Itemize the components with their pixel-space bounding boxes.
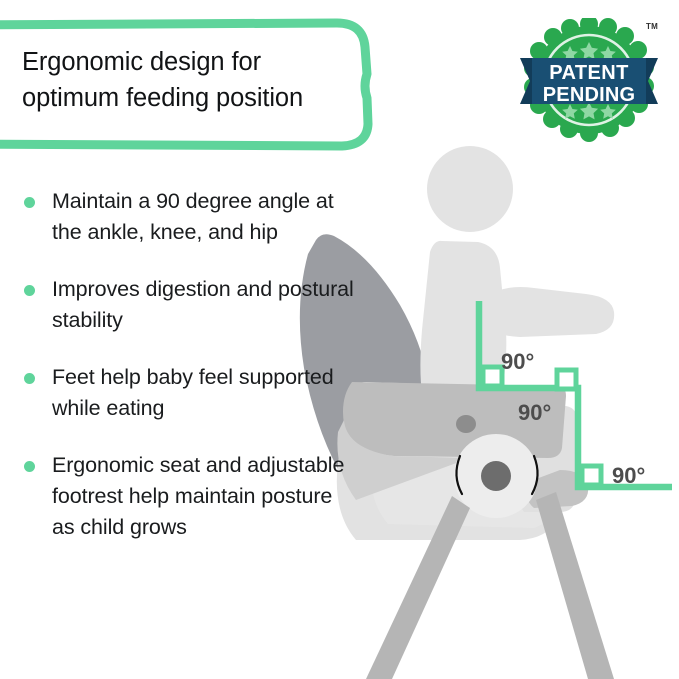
- page-title: Ergonomic design for optimum feeding pos…: [22, 44, 370, 116]
- bullet-dot-icon: [24, 197, 35, 208]
- recline-arc-right: [532, 456, 538, 494]
- right-angle-square-hip: [483, 367, 502, 386]
- list-item-label: Ergonomic seat and adjustable footrest h…: [52, 450, 354, 543]
- patent-pending-badge: TM PATENT PENDING: [518, 18, 660, 142]
- chair-leg-right: [536, 492, 614, 679]
- list-item-label: Feet help baby feel supported while eati…: [52, 362, 354, 424]
- right-angle-markers: [483, 367, 601, 485]
- chair-seat-skirt: [371, 452, 560, 528]
- angle-label-hip: 90°: [501, 349, 534, 375]
- list-item: Feet help baby feel supported while eati…: [24, 362, 354, 424]
- list-item-label: Improves digestion and postural stabilit…: [52, 274, 354, 336]
- baby-foot: [526, 470, 588, 508]
- baby-head: [427, 146, 513, 232]
- page-title-line2: optimum feeding position: [22, 80, 370, 116]
- list-item-label: Maintain a 90 degree angle at the ankle,…: [52, 186, 354, 248]
- baby-torso: [420, 241, 506, 406]
- bullet-dot-icon: [24, 373, 35, 384]
- title-callout-box: Ergonomic design for optimum feeding pos…: [0, 18, 386, 150]
- bullet-dot-icon: [24, 285, 35, 296]
- right-angle-square-ankle: [582, 466, 601, 485]
- badge-label-line1: PATENT: [518, 62, 660, 85]
- recline-arc-left: [456, 456, 462, 494]
- list-item: Maintain a 90 degree angle at the ankle,…: [24, 186, 354, 248]
- angle-label-ankle: 90°: [612, 463, 645, 489]
- infographic-canvas: 90° 90° 90° Ergonomic design for optimum…: [0, 0, 679, 679]
- list-item: Improves digestion and postural stabilit…: [24, 274, 354, 336]
- recline-hub: [454, 434, 538, 518]
- trademark-icon: TM: [646, 22, 658, 31]
- angle-guide-lines: [479, 301, 672, 487]
- benefits-list: Maintain a 90 degree angle at the ankle,…: [24, 186, 354, 569]
- chair-leg-left: [366, 496, 470, 679]
- page-title-line1: Ergonomic design for: [22, 44, 370, 80]
- baby-arm: [486, 287, 614, 337]
- badge-label-line2: PENDING: [518, 84, 660, 107]
- tray-knob: [456, 415, 476, 433]
- recline-hub-center: [481, 461, 511, 491]
- bullet-dot-icon: [24, 461, 35, 472]
- chair-tray-wedge: [337, 420, 470, 500]
- list-item: Ergonomic seat and adjustable footrest h…: [24, 450, 354, 543]
- right-angle-square-knee: [557, 370, 576, 389]
- angle-label-knee: 90°: [518, 400, 551, 426]
